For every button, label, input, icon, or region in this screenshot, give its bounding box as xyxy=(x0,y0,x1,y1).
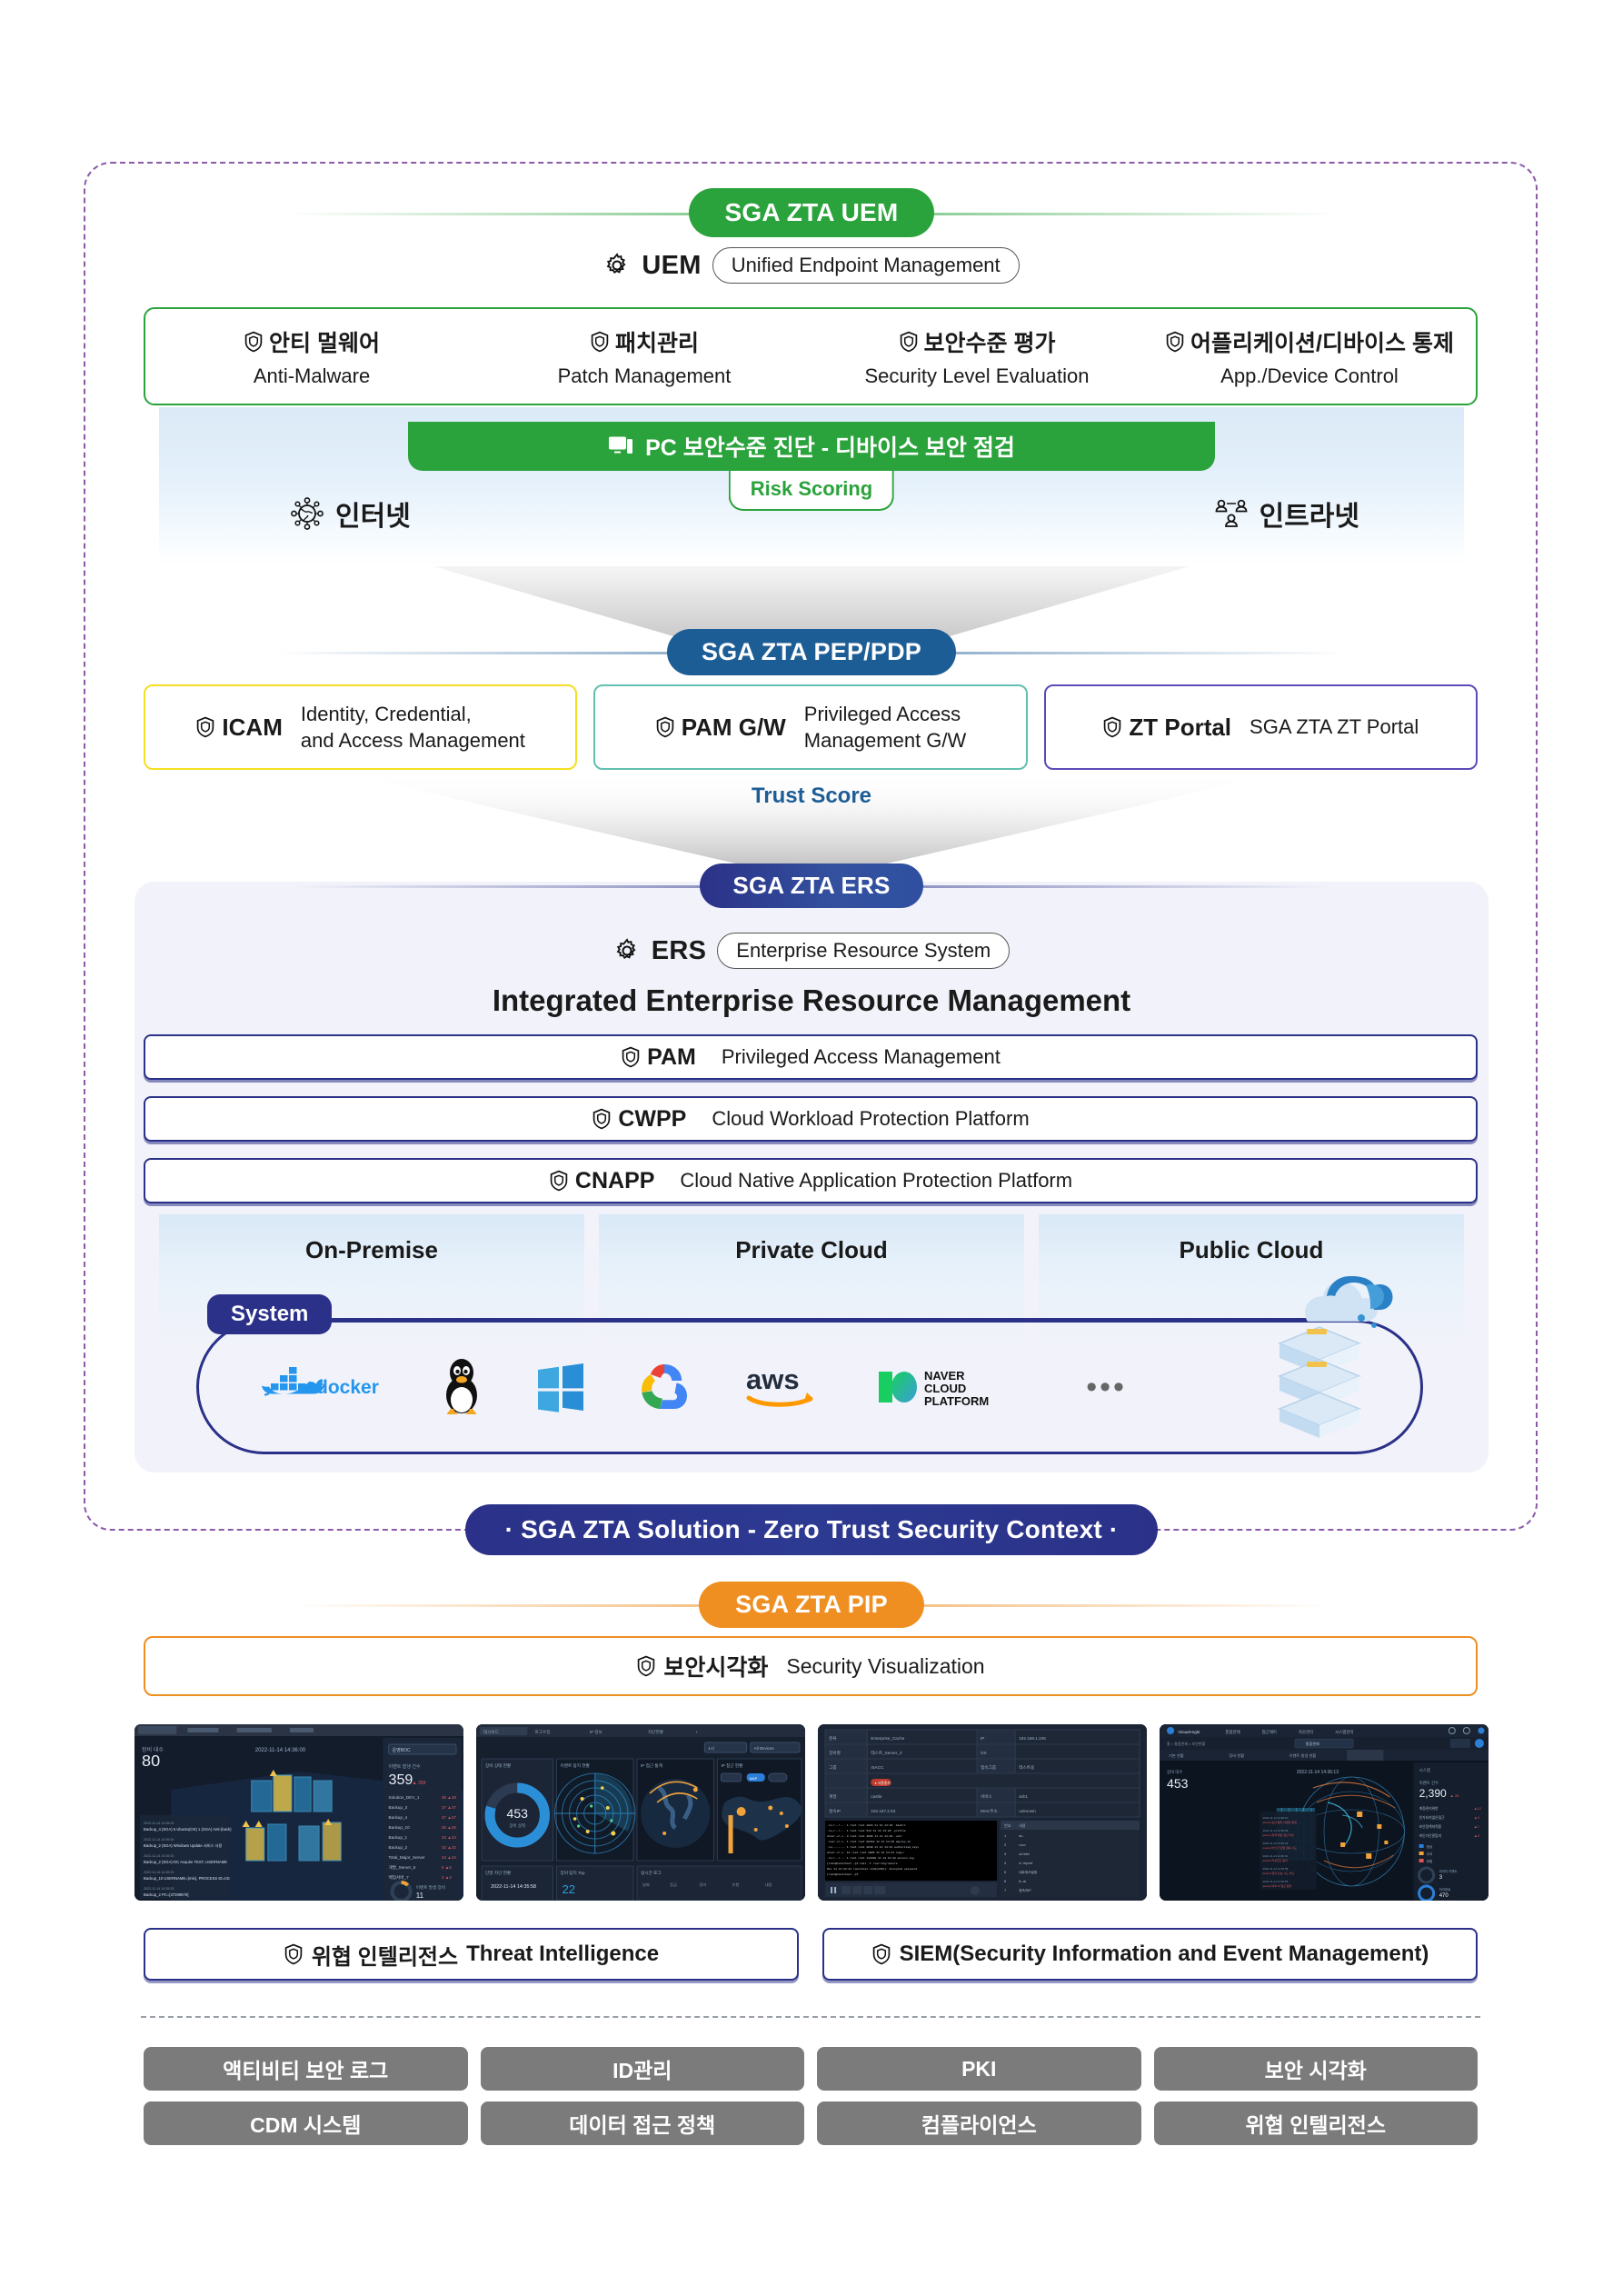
pep-card-zt-abbr: ZT Portal xyxy=(1129,714,1231,742)
svg-text:2022-11-14 14:36:00: 2022-11-14 14:36:00 xyxy=(255,1748,306,1753)
threat-intelligence-ko: 위협 인텔리전스 xyxy=(312,1939,458,1971)
svg-text:2022-11-14 14:36:10: 2022-11-14 14:36:10 xyxy=(1263,1816,1289,1820)
ers-bar-pam-abbr: PAM xyxy=(647,1044,696,1071)
pep-card-icam[interactable]: ICAM Identity, Credential, and Access Ma… xyxy=(144,684,577,770)
uem-abbr: UEM xyxy=(642,251,701,281)
pep-cards-row: ICAM Identity, Credential, and Access Ma… xyxy=(144,684,1478,770)
svg-text:장비 현황: 장비 현황 xyxy=(1229,1752,1244,1759)
svg-text:-rw-r--r--. 1 root root 102: -rw-r--r--. 1 root root 1024 11 14 14:20… xyxy=(827,1823,906,1827)
svg-text:계정: 계정 xyxy=(829,1793,837,1800)
google-cloud-logo xyxy=(636,1354,692,1420)
svg-text:2022-11-14 14:35:58: 2022-11-14 14:35:58 xyxy=(491,1884,536,1890)
tag-activity-security-log[interactable]: 액티비티 보안 로그 xyxy=(144,2047,468,2091)
svg-text:내용: 내용 xyxy=(1019,1822,1026,1828)
svg-text:서비스: 서비스 xyxy=(981,1793,992,1800)
shield-icon xyxy=(871,1943,891,1965)
svg-text:3 ▲3: 3 ▲3 xyxy=(442,1875,452,1880)
svg-text:장비 상태 현황: 장비 상태 현황 xyxy=(485,1762,512,1769)
linux-tux-logo xyxy=(438,1354,485,1420)
tag-security-visualization[interactable]: 보안 시각화 xyxy=(1154,2047,1479,2091)
svg-text:80: 80 xyxy=(142,1752,160,1770)
badge-line-right-pep xyxy=(930,652,1348,654)
svg-text:2022-11-14 14:36:04: 2022-11-14 14:36:04 xyxy=(1263,1842,1289,1845)
svg-text:38 ▲38: 38 ▲38 xyxy=(442,1795,457,1800)
pep-card-pam-desc: Privileged Access Management G/W xyxy=(804,701,967,754)
svg-text:홈 > 통합관제 > 보안현황: 홈 > 통합관제 > 보안현황 xyxy=(1167,1741,1206,1746)
svg-text:192.168.1.245: 192.168.1.245 xyxy=(1019,1736,1046,1741)
svg-text:계정관리위반: 계정관리위반 xyxy=(1419,1806,1439,1811)
uem-feature-1-ko: 패치관리 xyxy=(615,325,699,358)
section-badge-uem: SGA ZTA UEM xyxy=(0,189,1623,236)
svg-text:ls -al: ls -al xyxy=(1019,1880,1026,1883)
svg-text:IP: IP xyxy=(981,1736,984,1741)
svg-text:백업서버_7: 백업서버_7 xyxy=(389,1874,410,1881)
svg-text:359: 359 xyxy=(389,1772,413,1788)
badge-line-left-pip xyxy=(292,1604,710,1607)
pep-card-zt-portal[interactable]: ZT Portal SGA ZTA ZT Portal xyxy=(1044,684,1478,770)
siem-bar[interactable]: SIEM(Security Information and Event Mana… xyxy=(822,1928,1478,1981)
svg-text:4: 4 xyxy=(1004,1862,1006,1865)
svg-text:Backup_3: Backup_3 xyxy=(389,1805,408,1810)
ers-fullname-chip: Enterprise Resource System xyxy=(717,933,1010,969)
svg-text:2022-11-14 14:35:34: 2022-11-14 14:35:34 xyxy=(144,1822,174,1825)
svg-text:개발_Server_5: 개발_Server_5 xyxy=(389,1864,416,1871)
tag-cdm-system[interactable]: CDM 시스템 xyxy=(144,2101,468,2145)
svg-text:2022-11-14 14:35:33: 2022-11-14 14:35:33 xyxy=(144,1871,174,1874)
ers-bar-cwpp[interactable]: CWPP Cloud Workload Protection Platform xyxy=(144,1096,1478,1142)
svg-text:주의: 주의 xyxy=(1427,1852,1433,1856)
pep-card-pam-gw[interactable]: PAM G/W Privileged Access Management G/W xyxy=(593,684,1027,770)
badge-line-left-pep xyxy=(275,652,693,654)
uem-feature-0: 안티 멀웨어 Anti-Malware xyxy=(145,325,478,388)
badge-line-right-ers xyxy=(911,885,1329,888)
svg-text:ISACC: ISACC xyxy=(871,1765,884,1770)
tag-id-management[interactable]: ID관리 xyxy=(481,2047,805,2091)
svg-text:Enterprise_Cache: Enterprise_Cache xyxy=(871,1736,904,1741)
svg-text:-rw-r--r--. 1 root root 11293: -rw-r--r--. 1 root root 112938 11 14 14:… xyxy=(827,1856,914,1860)
svg-text:vi .my.cnf: vi .my.cnf xyxy=(1019,1862,1033,1865)
svg-text:시스템관리: 시스템관리 xyxy=(1335,1729,1353,1735)
svg-text:5: 5 xyxy=(1004,1871,1006,1874)
svg-text:7: 7 xyxy=(1004,1889,1006,1892)
svg-text:장비 대수: 장비 대수 xyxy=(1167,1769,1183,1775)
security-visualization-ko: 보안시각화 xyxy=(663,1650,768,1682)
svg-text:통합관제: 통합관제 xyxy=(1225,1729,1240,1735)
svg-text:cd /etc/: cd /etc/ xyxy=(1019,1852,1030,1856)
svg-text:내용: 내용 xyxy=(765,1882,772,1888)
svg-text:37 ▲37: 37 ▲37 xyxy=(442,1815,457,1820)
svg-text:장비명: 장비명 xyxy=(829,1750,841,1756)
svg-text:장비 탐지 Top: 장비 탐지 Top xyxy=(561,1870,585,1876)
svg-text:••••••: •••••• xyxy=(1019,1843,1026,1847)
svg-text:Backup_4 (SGA) 5 Ubuntu(OS) 1: Backup_4 (SGA) 5 Ubuntu(OS) 1 (SGA) Anti… xyxy=(144,1827,232,1832)
ers-bar-cwpp-abbr: CWPP xyxy=(618,1106,686,1133)
svg-text:접속그룹: 접속그룹 xyxy=(981,1764,996,1771)
internet-label: 인터넷 xyxy=(289,494,411,534)
ers-bar-cnapp-desc: Cloud Native Application Protection Plat… xyxy=(680,1169,1072,1193)
tag-compliance[interactable]: 컴플라이언스 xyxy=(817,2101,1141,2145)
svg-text:이벤트 발생 현황: 이벤트 발생 현황 xyxy=(1289,1752,1317,1759)
ers-bar-cnapp-abbr: CNAPP xyxy=(575,1168,655,1194)
svg-text:등급: 등급 xyxy=(670,1882,677,1887)
windows-logo xyxy=(534,1354,587,1420)
svg-text:33 ▲33: 33 ▲33 xyxy=(442,1835,457,1840)
uem-feature-3-en: App./Device Control xyxy=(1143,364,1476,388)
svg-text:[event] 보안 탐지 이벤트 발생: [event] 보안 탐지 이벤트 발생 xyxy=(1263,1820,1298,1824)
svg-text:34 ▲34: 34 ▲34 xyxy=(442,1855,457,1860)
more-platforms-ellipsis: ••• xyxy=(1086,1354,1127,1420)
uem-feature-1: 패치관리 Patch Management xyxy=(478,325,811,388)
svg-text:날짜: 날짜 xyxy=(642,1882,650,1888)
capability-tag-row-2: CDM 시스템 데이터 접근 정책 컴플라이언스 위협 인텔리전스 xyxy=(144,2101,1478,2145)
uem-feature-0-ko: 안티 멀웨어 xyxy=(269,325,380,358)
uem-feature-card: 안티 멀웨어 Anti-Malware 패치관리 Patch Managemen… xyxy=(144,307,1478,405)
svg-text:미처리 이벤트: 미처리 이벤트 xyxy=(1439,1869,1458,1873)
capability-tag-grid: 액티비티 보안 로그 ID관리 PKI 보안 시각화 CDM 시스템 데이터 접… xyxy=(144,2047,1478,2145)
section-badge-pip: SGA ZTA PIP xyxy=(0,1582,1623,1627)
svg-text:37 ▲37: 37 ▲37 xyxy=(442,1805,457,1810)
svg-text:▲5: ▲5 xyxy=(1474,1834,1479,1838)
svg-text:대시보드: 대시보드 xyxy=(483,1729,499,1735)
docker-logo: docker xyxy=(254,1354,389,1420)
tag-pki[interactable]: PKI xyxy=(817,2047,1141,2091)
svg-text:OS: OS xyxy=(981,1751,987,1755)
svg-text:▲ 25: ▲ 25 xyxy=(1450,1793,1459,1798)
shield-icon xyxy=(621,1046,641,1068)
uem-feature-0-en: Anti-Malware xyxy=(145,364,478,388)
svg-text:로그수집: 로그수집 xyxy=(534,1729,550,1735)
svg-text:1시: 1시 xyxy=(708,1746,714,1751)
svg-text:Backup_10: Backup_10 xyxy=(389,1825,411,1830)
svg-text:[event] 외부 IP 접근 탐지: [event] 외부 IP 접근 탐지 xyxy=(1263,1883,1292,1888)
svg-text:이벤트 발생 장비: 이벤트 발생 장비 xyxy=(416,1884,445,1891)
threat-intelligence-bar[interactable]: 위협 인텔리전스 Threat Intelligence xyxy=(144,1928,799,1981)
uem-feature-2-en: Security Level Evaluation xyxy=(811,364,1143,388)
svg-text:docker: docker xyxy=(316,1377,379,1398)
pc-security-diagnosis-bar: PC 보안수준 진단 - 디바이스 보안 점검 xyxy=(408,422,1215,471)
svg-text:유형: 유형 xyxy=(732,1882,740,1888)
internet-globe-icon xyxy=(289,495,325,532)
ers-bar-cnapp[interactable]: CNAPP Cloud Native Application Protectio… xyxy=(144,1158,1478,1203)
svg-text:2: 2 xyxy=(1004,1843,1006,1847)
svg-text:-rw-------. 1 root root 204: -rw-------. 1 root root 2048 11 14 14:21… xyxy=(827,1845,919,1849)
ers-badge-label: SGA ZTA ERS xyxy=(700,863,922,908)
siem-label: SIEM(Security Information and Event Mana… xyxy=(900,1942,1429,1967)
svg-text:ssh1: ssh1 xyxy=(1019,1794,1028,1799)
svg-text:운영BOC: 운영BOC xyxy=(393,1747,411,1753)
svg-text:Backup_4: Backup_4 xyxy=(389,1815,408,1820)
pc-bar-label: PC 보안수준 진단 - 디바이스 보안 점검 xyxy=(645,430,1015,463)
capability-tag-row-1: 액티비티 보안 로그 ID관리 PKI 보안 시각화 xyxy=(144,2047,1478,2091)
trust-score-label: Trust Score xyxy=(0,784,1623,809)
server-stack-cloud-illustration xyxy=(1260,1249,1423,1449)
system-capsule-topline xyxy=(307,1318,1307,1321)
svg-text:[event] 권한 상승 시도 차단: [event] 권한 상승 시도 차단 xyxy=(1263,1871,1295,1875)
badge-line-left-ers xyxy=(294,885,712,888)
shield-icon xyxy=(549,1170,569,1192)
svg-text:테스트용: 테스트용 xyxy=(1019,1764,1034,1771)
pep-card-pam-abbr: PAM G/W xyxy=(682,714,786,742)
svg-text:Backup_2 PC=[37289876]: Backup_2 PC=[37289876] xyxy=(144,1892,188,1897)
solution-badge: · SGA ZTA Solution - Zero Trust Security… xyxy=(0,1504,1623,1555)
svg-text:3: 3 xyxy=(1004,1852,1006,1856)
ers-bar-pam[interactable]: PAM Privileged Access Management xyxy=(144,1034,1478,1080)
svg-text:네트워크설정: 네트워크설정 xyxy=(1019,1870,1037,1874)
uem-feature-3-ko: 어플리케이션/디바이스 통제 xyxy=(1190,325,1454,358)
naver-cloud-platform-logo: NAVER CLOUD PLATFORM xyxy=(877,1354,1037,1420)
uem-feature-3: 어플리케이션/디바이스 통제 App./Device Control xyxy=(1143,325,1476,388)
svg-text:-rwxr-xr-x. 1 root root 8834: -rwxr-xr-x. 1 root root 88342 11 14 14:2… xyxy=(827,1840,911,1843)
svg-text:2022-11-14 14:35:55: 2022-11-14 14:35:55 xyxy=(1263,1880,1289,1883)
svg-text:1: 1 xyxy=(1004,1834,1006,1838)
gear-icon xyxy=(603,252,631,279)
svg-text:2022-11-14 14:36:01: 2022-11-14 14:36:01 xyxy=(1263,1854,1289,1858)
shield-icon xyxy=(284,1943,304,1965)
aws-logo: aws xyxy=(742,1354,829,1420)
svg-text:453: 453 xyxy=(507,1806,529,1821)
svg-text:2022-11-14 14:35:34: 2022-11-14 14:35:34 xyxy=(144,1838,174,1842)
svg-text:이벤트 건수: 이벤트 건수 xyxy=(1419,1780,1439,1786)
platform-logos: docker xyxy=(254,1334,1127,1440)
tag-threat-intelligence[interactable]: 위협 인텔리전스 xyxy=(1154,2101,1479,2145)
svg-text:Backup_10 USERNAME=(min), PROC: Backup_10 USERNAME=(min), PROCESS ID=CE xyxy=(144,1876,230,1881)
shield-icon xyxy=(899,331,919,353)
svg-text:VisualAngle: VisualAngle xyxy=(1178,1730,1200,1734)
svg-text:● 사용중지: ● 사용중지 xyxy=(874,1781,890,1785)
svg-text:테스트_Server_3: 테스트_Server_3 xyxy=(871,1750,902,1756)
svg-text:단말 차단 현황: 단말 차단 현황 xyxy=(485,1870,512,1876)
svg-text:기본 현황: 기본 현황 xyxy=(1169,1752,1184,1759)
pip-badge-label: SGA ZTA PIP xyxy=(699,1582,924,1628)
svg-text:▲12: ▲12 xyxy=(1474,1807,1481,1811)
svg-text:470: 470 xyxy=(1439,1893,1449,1899)
svg-text:보안정책미적용: 보안정책미적용 xyxy=(1419,1824,1442,1829)
badge-line-right-uem xyxy=(919,213,1337,215)
ers-header: ERS Enterprise Resource System xyxy=(0,933,1623,969)
pep-card-icam-abbr: ICAM xyxy=(222,714,282,742)
security-visualization-en: Security Visualization xyxy=(786,1654,984,1679)
intranet-label: 인트라넷 xyxy=(1213,494,1359,534)
svg-text:[root@localhost ~]#: [root@localhost ~]# xyxy=(827,1872,859,1876)
thumbnail-threat-radar-dashboard[interactable]: 대시보드로그수집IP 정보차단현황+ 1시 All Devices 장비 상태 … xyxy=(476,1724,805,1901)
svg-text:Solution_DEV_1: Solution_DEV_1 xyxy=(389,1795,420,1800)
svg-text:[event] 악성코드 탐지: [event] 악성코드 탐지 xyxy=(1263,1858,1289,1862)
svg-text:Total_Major_Server: Total_Major_Server xyxy=(389,1855,426,1860)
badge-line-right-pip xyxy=(913,1604,1331,1607)
thumbnail-globe-threat-map[interactable]: VisualAngle 통합관제접근제어자산관리시스템관리 홈 > 통합관제 >… xyxy=(1160,1724,1489,1901)
svg-text:Backup_2: Backup_2 xyxy=(389,1845,408,1850)
shield-icon xyxy=(1165,331,1185,353)
svg-text:11: 11 xyxy=(416,1892,424,1900)
shield-icon xyxy=(636,1655,656,1677)
svg-text:▲ 359: ▲ 359 xyxy=(413,1781,426,1786)
svg-text:Nov 14 14:22:01 localhost sshd: Nov 14 14:22:01 localhost sshd[2391]: Ac… xyxy=(827,1867,917,1871)
pip-feature-bars: 위협 인텔리전스 Threat Intelligence SIEM(Securi… xyxy=(144,1928,1478,1981)
svg-text:IP 접근 통계: IP 접근 통계 xyxy=(641,1762,662,1769)
svg-text:장비: 장비 xyxy=(699,1882,706,1888)
uem-header: UEM Unified Endpoint Management xyxy=(0,247,1623,284)
svg-text:실시간 로그: 실시간 로그 xyxy=(641,1870,662,1875)
svg-text:IP 접근 현황: IP 접근 현황 xyxy=(721,1762,743,1768)
svg-text:NAVER: NAVER xyxy=(924,1369,965,1383)
bottom-divider xyxy=(141,2016,1480,2018)
svg-text:6: 6 xyxy=(1004,1880,1006,1883)
svg-text:su -: su - xyxy=(1019,1834,1025,1838)
thumbnail-terminal-session-log[interactable]: 분류Enterprise_CacheIP192.168.1.245 장비명테스트… xyxy=(818,1724,1147,1901)
svg-text:처리완료: 처리완료 xyxy=(1439,1887,1451,1892)
svg-text:번호: 번호 xyxy=(1004,1822,1011,1828)
svg-text:2,390: 2,390 xyxy=(1419,1787,1447,1800)
svg-text:이벤트 발생 건수: 이벤트 발생 건수 xyxy=(389,1763,421,1770)
svg-text:이벤트 탐지 현황: 이벤트 탐지 현황 xyxy=(561,1762,591,1769)
svg-text:차단현황: 차단현황 xyxy=(648,1729,664,1735)
shield-icon xyxy=(195,716,215,738)
svg-text:aws: aws xyxy=(746,1363,800,1395)
col-label-0: On-Premise xyxy=(305,1236,438,1263)
svg-text:drwxr-xr-x. 3 root root 409: drwxr-xr-x. 3 root root 4096 11 14 14:20… xyxy=(827,1834,902,1838)
svg-text:unknown: unknown xyxy=(1019,1809,1036,1813)
pep-card-icam-desc: Identity, Credential, and Access Managem… xyxy=(301,701,525,754)
shield-icon xyxy=(244,331,264,353)
intranet-users-icon xyxy=(1213,495,1250,532)
svg-text:[event] 정책 위반 접근 차단: [event] 정책 위반 접근 차단 xyxy=(1263,1832,1295,1837)
svg-text:6 ▲6: 6 ▲6 xyxy=(442,1865,452,1870)
ers-abbr: ERS xyxy=(652,936,707,966)
svg-text:[root@localhost ~]# tail -f /v: [root@localhost ~]# tail -f /var/log/sec… xyxy=(827,1862,898,1865)
svg-text:32 ▲32: 32 ▲32 xyxy=(442,1845,457,1850)
svg-text:2022-11-14 14:35:33: 2022-11-14 14:35:33 xyxy=(144,1854,174,1858)
svg-text:[event] 비인가 단말 접속 시도: [event] 비인가 단말 접속 시도 xyxy=(1263,1845,1298,1850)
threat-intelligence-en: Threat Intelligence xyxy=(466,1942,659,1967)
svg-text:2022-11-14 14:35:33: 2022-11-14 14:35:33 xyxy=(144,1887,174,1891)
svg-text:drwxr-xr-x. 12 root root 409: drwxr-xr-x. 12 root root 4096 11 14 14:2… xyxy=(827,1851,904,1854)
uem-feature-2-ko: 보안수준 평가 xyxy=(924,325,1056,358)
svg-text:-rw-r--r--. 1 root root 51: -rw-r--r--. 1 root root 512 11 14 14:20 … xyxy=(827,1829,906,1832)
svg-text:통합관제: 통합관제 xyxy=(1306,1741,1319,1746)
solution-badge-label: · SGA ZTA Solution - Zero Trust Security… xyxy=(465,1504,1159,1555)
svg-text:castle: castle xyxy=(871,1794,882,1799)
svg-text:자산관리: 자산관리 xyxy=(1299,1729,1313,1735)
svg-text:2022-11-14 14:36:13: 2022-11-14 14:36:13 xyxy=(1297,1770,1339,1775)
shield-icon xyxy=(592,1108,612,1130)
shield-icon xyxy=(590,331,610,353)
svg-text:Backup_2 (SGA)-DC Acquire TEST: Backup_2 (SGA)-DC Acquire TEST, USERNAME xyxy=(144,1860,227,1864)
svg-text:+: + xyxy=(695,1730,698,1734)
svg-text:PLATFORM: PLATFORM xyxy=(924,1394,989,1408)
section-badge-pep: SGA ZTA PEP/PDP xyxy=(0,629,1623,674)
svg-text:2022-11-14 14:35:58: 2022-11-14 14:35:58 xyxy=(1263,1867,1289,1871)
svg-text:453: 453 xyxy=(1167,1776,1189,1791)
svg-text:접근제어: 접근제어 xyxy=(1262,1729,1277,1735)
svg-text:Backup_2 (SGA) Windows Update: Backup_2 (SGA) Windows Update 서비스 사용 xyxy=(144,1842,223,1849)
svg-text:IP 정보: IP 정보 xyxy=(590,1729,602,1734)
system-chip-label: System xyxy=(207,1294,332,1334)
svg-text:접속IP: 접속IP xyxy=(829,1808,841,1814)
internet-label-text: 인터넷 xyxy=(335,494,411,534)
svg-text:인가되지않은접근: 인가되지않은접근 xyxy=(1419,1815,1446,1820)
zta-architecture-diagram: SGA ZTA UEM UEM Unified Endpoint Managem… xyxy=(0,0,1623,2296)
risk-scoring-chip: Risk Scoring xyxy=(729,471,894,511)
svg-text:위험: 위험 xyxy=(1427,1859,1433,1863)
uem-feature-2: 보안수준 평가 Security Level Evaluation xyxy=(811,325,1143,388)
col-label-1: Private Cloud xyxy=(735,1236,888,1263)
shield-icon xyxy=(655,716,675,738)
badge-line-left-uem xyxy=(286,213,704,215)
uem-fullname-chip: Unified Endpoint Management xyxy=(712,247,1020,284)
svg-text:All Devices: All Devices xyxy=(754,1746,775,1751)
thumbnail-device-3d-dashboard[interactable]: 장비 대수 80 2022-11-14 14:36:00 xyxy=(134,1724,463,1901)
monitor-icon xyxy=(608,435,633,457)
svg-text:MAP: MAP xyxy=(750,1776,758,1781)
uem-badge-label: SGA ZTA UEM xyxy=(689,188,935,237)
svg-text:그룹: 그룹 xyxy=(829,1765,837,1770)
uem-feature-1-en: Patch Management xyxy=(478,364,811,388)
svg-text:192.167.2.83: 192.167.2.83 xyxy=(871,1809,895,1813)
svg-text:CLOUD: CLOUD xyxy=(924,1382,966,1395)
svg-text:장비 상태: 장비 상태 xyxy=(509,1822,525,1829)
ers-bar-pam-desc: Privileged Access Management xyxy=(722,1045,1001,1069)
svg-text:2022-11-14 14:36:08: 2022-11-14 14:36:08 xyxy=(1263,1829,1289,1832)
security-visualization-card[interactable]: 보안시각화 Security Visualization xyxy=(144,1636,1478,1696)
shield-icon xyxy=(1102,716,1122,738)
pep-badge-label: SGA ZTA PEP/PDP xyxy=(667,629,956,675)
svg-text:22: 22 xyxy=(563,1882,576,1896)
svg-text:정상: 정상 xyxy=(1427,1844,1433,1849)
pep-card-zt-desc: SGA ZTA ZT Portal xyxy=(1250,714,1419,740)
gear-icon xyxy=(613,937,641,964)
ers-bar-cwpp-desc: Cloud Workload Protection Platform xyxy=(712,1107,1029,1131)
svg-text:접속자IP: 접속자IP xyxy=(1019,1888,1031,1892)
intranet-label-text: 인트라넷 xyxy=(1260,494,1359,534)
svg-text:비인가단말탐지: 비인가단말탐지 xyxy=(1419,1833,1442,1838)
svg-text:▲9: ▲9 xyxy=(1474,1816,1479,1820)
svg-text:▲7: ▲7 xyxy=(1474,1825,1479,1829)
svg-text:Backup_1: Backup_1 xyxy=(389,1835,408,1840)
svg-text:36 ▲36: 36 ▲36 xyxy=(442,1825,457,1830)
dashboard-thumbnails: 장비 대수 80 2022-11-14 14:36:00 xyxy=(134,1724,1489,1901)
svg-text:시스템: 시스템 xyxy=(1419,1767,1430,1772)
ers-title: Integrated Enterprise Resource Managemen… xyxy=(0,983,1623,1018)
tag-data-access-policy[interactable]: 데이터 접근 정책 xyxy=(481,2101,805,2145)
